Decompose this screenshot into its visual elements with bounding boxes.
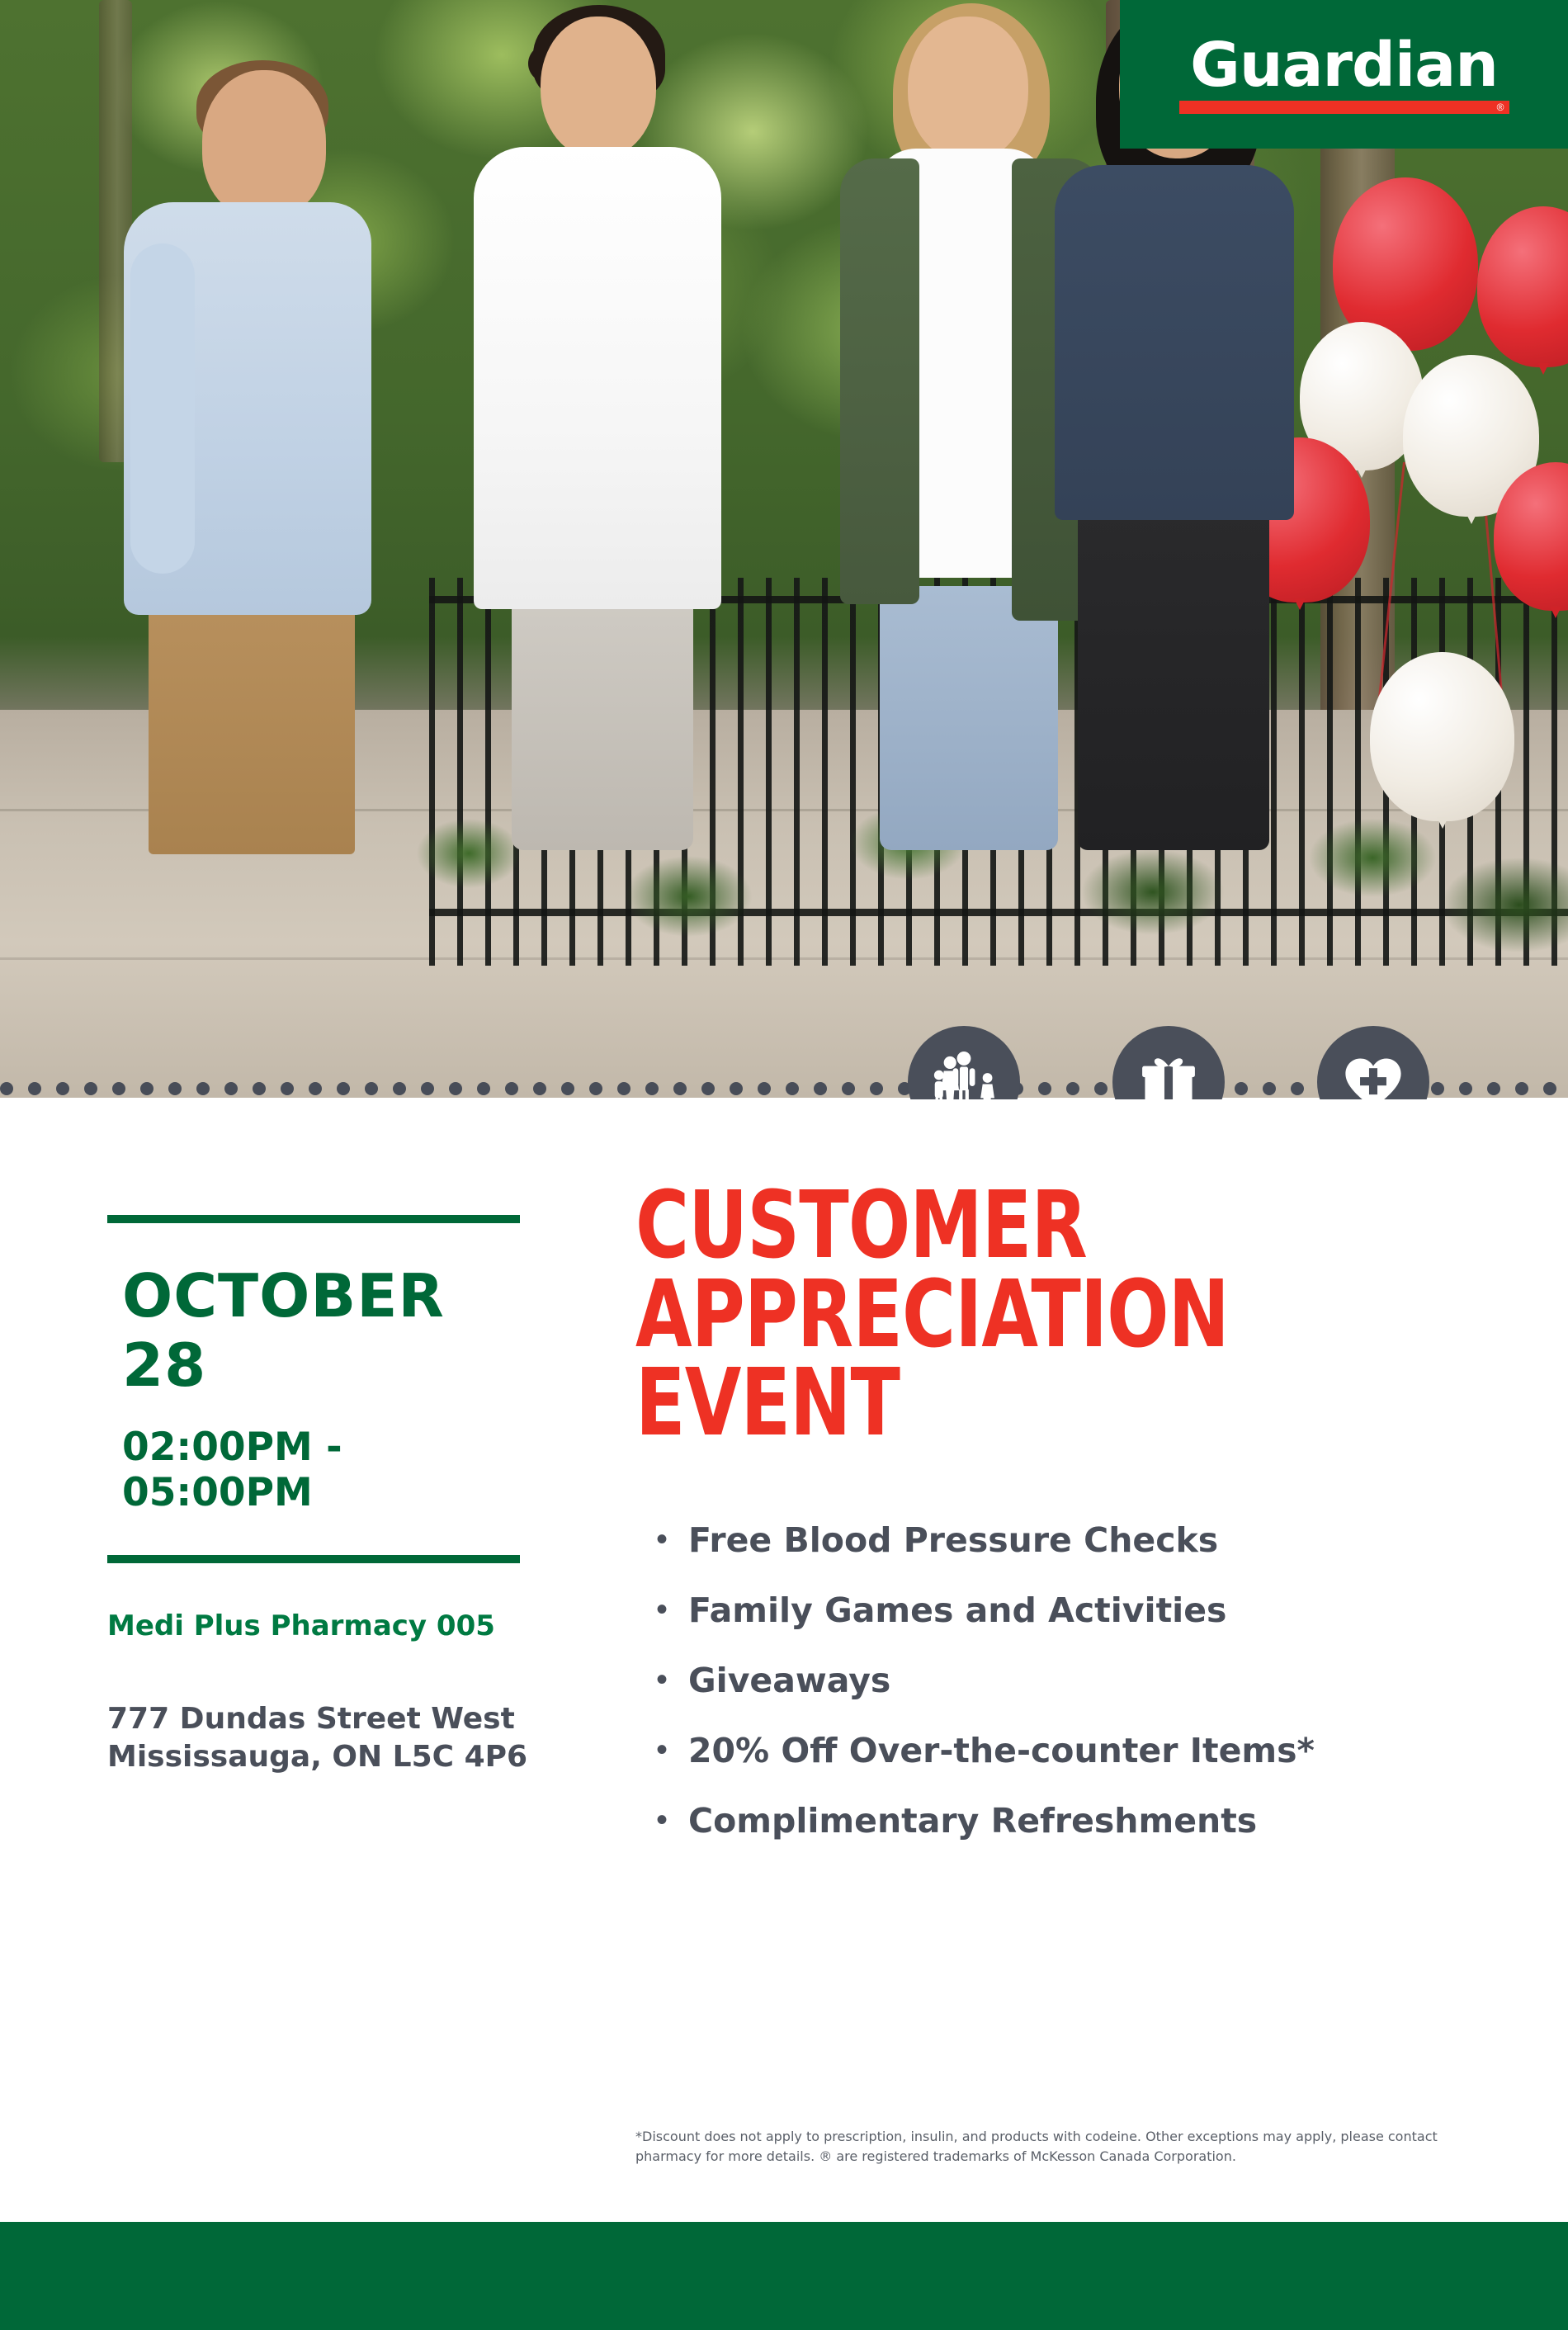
bullet-icon: • [635,1593,688,1626]
trousers [1078,503,1269,850]
list-item: • Complimentary Refreshments [635,1803,1494,1839]
event-time: 02:00PM - 05:00PM [122,1425,536,1515]
t-shirt [1055,165,1294,520]
event-promo-column: CUSTOMER APPRECIATION EVENT • Free Blood… [635,1182,1494,1874]
feature-label: Family Games and Activities [688,1593,1226,1628]
headline-line-1: CUSTOMER [635,1182,1391,1271]
lab-coat [474,147,721,609]
footer-bar [0,2222,1568,2330]
feature-label: Free Blood Pressure Checks [688,1523,1218,1558]
store-address: 777 Dundas Street West Mississauga, ON L… [107,1700,536,1776]
address-line-2: Mississauga, ON L5C 4P6 [107,1738,536,1776]
store-name: Medi Plus Pharmacy 005 [107,1609,536,1642]
address-line-1: 777 Dundas Street West [107,1700,536,1738]
bullet-icon: • [635,1733,688,1766]
event-date: OCTOBER 28 [122,1261,536,1400]
person-customer-man [124,70,380,846]
list-item: • Giveaways [635,1663,1494,1699]
headline-line-2: APPRECIATION [635,1271,1391,1360]
disclaimer-text: *Discount does not apply to prescription… [635,2127,1444,2167]
headline-line-3: EVENT [635,1359,1391,1449]
list-item: • 20% Off Over-the-counter Items* [635,1733,1494,1769]
features-list: • Free Blood Pressure Checks • Family Ga… [635,1523,1494,1839]
head [908,17,1028,162]
content-area: OCTOBER 28 02:00PM - 05:00PM Medi Plus P… [0,1099,1568,2222]
event-poster: Guardian ® [0,0,1568,2330]
bullet-icon: • [635,1523,688,1556]
divider-rule-top [107,1215,520,1223]
bullet-icon: • [635,1663,688,1696]
person-pharmacist [479,17,726,850]
event-details-column: OCTOBER 28 02:00PM - 05:00PM Medi Plus P… [107,1215,536,1776]
guardian-logo: Guardian ® [1120,0,1568,149]
balloon-white [1370,652,1514,821]
head [541,17,656,158]
arm [130,243,195,574]
jeans [880,586,1058,850]
divider-rule-bottom [107,1555,520,1563]
logo-underline-bar: ® [1179,101,1509,114]
feature-label: Complimentary Refreshments [688,1803,1257,1839]
head [202,70,326,219]
feature-label: Giveaways [688,1663,890,1699]
page-title: CUSTOMER APPRECIATION EVENT [635,1182,1391,1449]
trousers [149,582,355,854]
registered-trademark-icon: ® [1497,102,1504,113]
hero-photo [0,0,1568,1098]
bullet-icon: • [635,1803,688,1836]
cardigan-left [840,158,919,604]
list-item: • Family Games and Activities [635,1593,1494,1628]
trousers [512,594,693,850]
logo-wordmark: Guardian [1190,35,1498,96]
feature-label: 20% Off Over-the-counter Items* [688,1733,1315,1769]
list-item: • Free Blood Pressure Checks [635,1523,1494,1558]
